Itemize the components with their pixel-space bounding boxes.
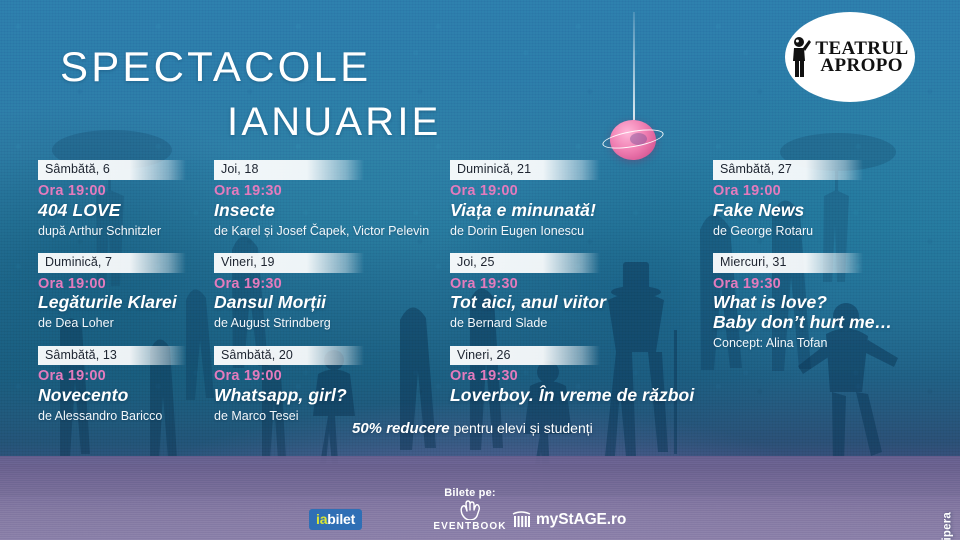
event-time: Ora 19:00 bbox=[38, 367, 223, 386]
discount-rest: pentru elevi și studenți bbox=[453, 420, 592, 436]
discount-highlight: 50% reducere bbox=[352, 420, 450, 437]
event-title: Legăturile Klarei bbox=[38, 293, 223, 313]
planet-string bbox=[633, 12, 635, 120]
event-time: Ora 19:00 bbox=[450, 182, 712, 201]
venue-address-vertical: Teatrul APROPO: Bdul Dimitrie Pompeiu nr… bbox=[942, 512, 954, 540]
event-author: de Dea Loher bbox=[38, 315, 223, 331]
event-time: Ora 19:00 bbox=[214, 367, 444, 386]
event-title: What is love?Baby don’t hurt me… bbox=[713, 293, 918, 333]
logo-wordmark: TEATRUL APROPO bbox=[815, 40, 908, 75]
event-date: Sâmbătă, 20 bbox=[214, 346, 364, 366]
event-item[interactable]: Joi, 25Ora 19:30Tot aici, anul viitorde … bbox=[450, 253, 712, 332]
eventbook-text: EVENTBOOK bbox=[412, 521, 528, 532]
event-title: Novecento bbox=[38, 386, 223, 406]
event-author: de Alessandro Baricco bbox=[38, 408, 223, 424]
page-title: SPECTACOLE IANUARIE bbox=[60, 46, 442, 142]
event-time: Ora 19:00 bbox=[713, 182, 918, 201]
event-date: Duminică, 7 bbox=[38, 253, 186, 273]
event-date: Duminică, 21 bbox=[450, 160, 600, 180]
event-item[interactable]: Sâmbătă, 13Ora 19:00Novecentode Alessand… bbox=[38, 346, 223, 425]
event-item[interactable]: Duminică, 21Ora 19:00Viața e minunată!de… bbox=[450, 160, 712, 239]
title-line-2: IANUARIE bbox=[227, 102, 442, 142]
iabilet-ia: ia bbox=[316, 511, 327, 527]
event-item[interactable]: Duminică, 7Ora 19:00Legăturile Klareide … bbox=[38, 253, 223, 332]
iabilet-bilet: bilet bbox=[327, 511, 355, 527]
event-title: Viața e minunată! bbox=[450, 201, 712, 221]
event-title: Dansul Morții bbox=[214, 293, 444, 313]
event-date: Vineri, 19 bbox=[214, 253, 364, 273]
event-date: Joi, 25 bbox=[450, 253, 600, 273]
eventbook-logo[interactable]: EVENTBOOK bbox=[412, 500, 528, 532]
event-date: Sâmbătă, 13 bbox=[38, 346, 186, 366]
iabilet-logo[interactable]: iabilet bbox=[309, 509, 362, 530]
event-item[interactable]: Sâmbătă, 6Ora 19:00404 LOVEdupă Arthur S… bbox=[38, 160, 223, 239]
event-author: de Bernard Slade bbox=[450, 315, 712, 331]
event-item[interactable]: Vineri, 26Ora 19:30Loverboy. În vreme de… bbox=[450, 346, 712, 407]
event-date: Vineri, 26 bbox=[450, 346, 600, 366]
event-item[interactable]: Joi, 18Ora 19:30Insectede Karel și Josef… bbox=[214, 160, 444, 239]
event-author: de Dorin Eugen Ionescu bbox=[450, 223, 712, 239]
event-author: de George Rotaru bbox=[713, 223, 918, 239]
event-item[interactable]: Vineri, 19Ora 19:30Dansul Morțiide Augus… bbox=[214, 253, 444, 332]
schedule-column-2: Joi, 18Ora 19:30Insectede Karel și Josef… bbox=[214, 160, 444, 438]
poster: SPECTACOLE IANUARIE TEATRUL APROPO Sâm bbox=[0, 0, 960, 540]
event-title: 404 LOVE bbox=[38, 201, 223, 221]
mystage-logo[interactable]: myStAGE.ro bbox=[512, 510, 626, 529]
teatrul-apropo-logo[interactable]: TEATRUL APROPO bbox=[785, 12, 915, 117]
discount-note: 50% reducere pentru elevi și studenți bbox=[352, 420, 593, 437]
event-time: Ora 19:00 bbox=[38, 182, 223, 201]
event-title: Tot aici, anul viitor bbox=[450, 293, 712, 313]
event-date: Sâmbătă, 27 bbox=[713, 160, 863, 180]
stage-curtain-icon bbox=[512, 510, 531, 529]
event-time: Ora 19:30 bbox=[450, 275, 712, 294]
event-title: Fake News bbox=[713, 201, 918, 221]
event-date: Miercuri, 31 bbox=[713, 253, 863, 273]
mystage-text: myStAGE.ro bbox=[536, 511, 626, 529]
bilete-pe-label: Bilete pe: bbox=[425, 487, 515, 499]
schedule-column-4: Sâmbătă, 27Ora 19:00Fake Newsde George R… bbox=[713, 160, 918, 366]
hand-icon bbox=[457, 500, 483, 520]
event-author: de August Strindberg bbox=[214, 315, 444, 331]
event-item[interactable]: Sâmbătă, 27Ora 19:00Fake Newsde George R… bbox=[713, 160, 918, 239]
event-author: după Arthur Schnitzler bbox=[38, 223, 223, 239]
schedule-column-3: Duminică, 21Ora 19:00Viața e minunată!de… bbox=[450, 160, 712, 420]
event-title: Insecte bbox=[214, 201, 444, 221]
event-author: Concept: Alina Tofan bbox=[713, 335, 918, 351]
event-item[interactable]: Sâmbătă, 20Ora 19:00Whatsapp, girl?de Ma… bbox=[214, 346, 444, 425]
logo-line-2: APROPO bbox=[820, 57, 908, 74]
actor-figure-icon bbox=[791, 36, 811, 78]
schedule-column-1: Sâmbătă, 6Ora 19:00404 LOVEdupă Arthur S… bbox=[38, 160, 223, 438]
footer: Bilete pe: iabilet EVENTBOOK myStAGE.ro bbox=[0, 480, 960, 540]
event-date: Sâmbătă, 6 bbox=[38, 160, 186, 180]
event-time: Ora 19:30 bbox=[450, 367, 712, 386]
event-time: Ora 19:30 bbox=[214, 275, 444, 294]
event-item[interactable]: Miercuri, 31Ora 19:30What is love?Baby d… bbox=[713, 253, 918, 352]
event-time: Ora 19:30 bbox=[713, 275, 918, 294]
title-line-1: SPECTACOLE bbox=[60, 46, 442, 88]
event-time: Ora 19:00 bbox=[38, 275, 223, 294]
event-author: de Karel și Josef Čapek, Victor Pelevin bbox=[214, 223, 444, 239]
event-time: Ora 19:30 bbox=[214, 182, 444, 201]
event-title: Whatsapp, girl? bbox=[214, 386, 444, 406]
event-date: Joi, 18 bbox=[214, 160, 364, 180]
event-title: Loverboy. În vreme de război bbox=[450, 386, 712, 406]
